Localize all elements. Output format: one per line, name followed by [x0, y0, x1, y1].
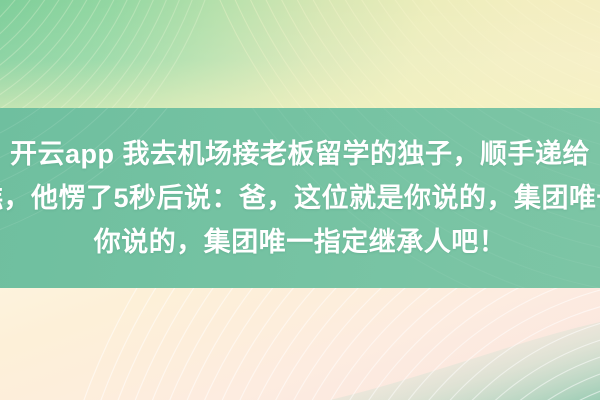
banner-text-line-1: 开云app 我去机场接老板留学的独子，顺手递给 [10, 132, 590, 176]
banner-image: 开云app 我去机场接老板留学的独子，顺手递给 糕，他愣了5秒后说：爸，这位就是… [0, 0, 600, 400]
banner-text-line-2: 糕，他愣了5秒后说：爸，这位就是你说的，集团唯一 [0, 176, 600, 220]
arc-pattern-top [0, 0, 600, 108]
background-band-bottom [0, 288, 600, 400]
background-band-top [0, 0, 600, 108]
banner-text-line-3: 你说的，集团唯一指定继承人吧！ [94, 220, 507, 264]
banner-text-block: 开云app 我去机场接老板留学的独子，顺手递给 糕，他愣了5秒后说：爸，这位就是… [0, 108, 600, 288]
arc-pattern-bottom [0, 288, 600, 400]
